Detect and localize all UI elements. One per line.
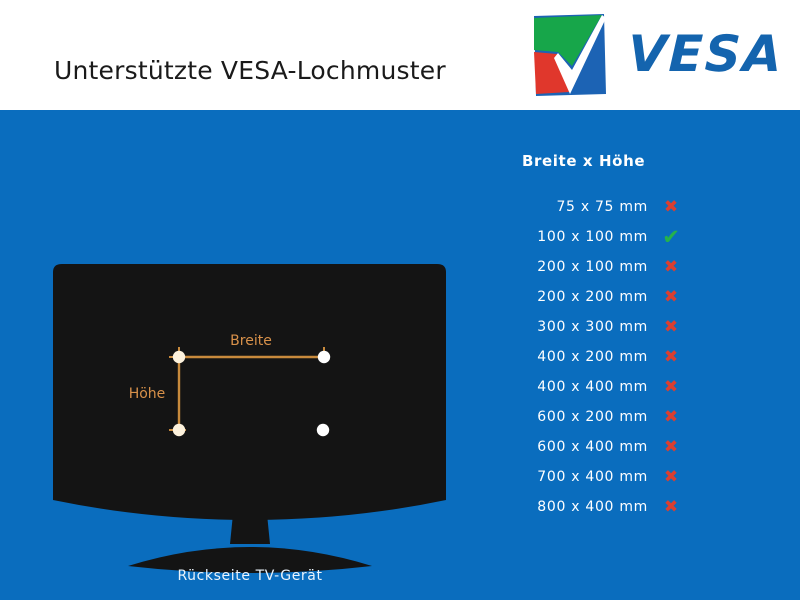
vesa-wordmark: VESA bbox=[627, 26, 785, 82]
unsupported-cross-icon: ✖ bbox=[648, 499, 694, 516]
vesa-logo-mark-icon bbox=[532, 14, 606, 96]
table-row: 300 x 300 mm✖ bbox=[500, 312, 750, 342]
pattern-size-label: 300 x 300 mm bbox=[500, 319, 648, 335]
mount-hole-top-left bbox=[173, 351, 185, 363]
mount-hole-bottom-right bbox=[317, 424, 329, 436]
table-row: 600 x 400 mm✖ bbox=[500, 432, 750, 462]
tv-caption: Rückseite TV-Gerät bbox=[20, 568, 480, 584]
pattern-size-label: 200 x 100 mm bbox=[500, 259, 648, 275]
table-rows: 75 x 75 mm✖100 x 100 mm✔200 x 100 mm✖200… bbox=[500, 192, 750, 522]
tv-body bbox=[53, 264, 446, 520]
table-row: 75 x 75 mm✖ bbox=[500, 192, 750, 222]
pattern-size-label: 600 x 400 mm bbox=[500, 439, 648, 455]
unsupported-cross-icon: ✖ bbox=[648, 319, 694, 336]
page-header: Unterstützte VESA-Lochmuster VESA bbox=[0, 0, 800, 110]
vesa-compatibility-page: Unterstützte VESA-Lochmuster VESA bbox=[0, 0, 800, 600]
supported-check-icon: ✔ bbox=[648, 227, 694, 248]
pattern-size-label: 700 x 400 mm bbox=[500, 469, 648, 485]
table-row: 100 x 100 mm✔ bbox=[500, 222, 750, 252]
table-row: 200 x 200 mm✖ bbox=[500, 282, 750, 312]
pattern-size-label: 75 x 75 mm bbox=[500, 199, 648, 215]
vesa-pattern-table: Breite x Höhe 75 x 75 mm✖100 x 100 mm✔20… bbox=[500, 152, 750, 522]
pattern-size-label: 100 x 100 mm bbox=[500, 229, 648, 245]
table-row: 400 x 400 mm✖ bbox=[500, 372, 750, 402]
unsupported-cross-icon: ✖ bbox=[648, 289, 694, 306]
pattern-size-label: 200 x 200 mm bbox=[500, 289, 648, 305]
content-panel: Breite Höhe Rückseite TV-Gerät Breite x … bbox=[0, 110, 800, 600]
table-row: 700 x 400 mm✖ bbox=[500, 462, 750, 492]
vesa-logo: VESA bbox=[532, 14, 782, 96]
unsupported-cross-icon: ✖ bbox=[648, 469, 694, 486]
mount-hole-top-right bbox=[318, 351, 330, 363]
unsupported-cross-icon: ✖ bbox=[648, 409, 694, 426]
pattern-size-label: 800 x 400 mm bbox=[500, 499, 648, 515]
unsupported-cross-icon: ✖ bbox=[648, 259, 694, 276]
table-header: Breite x Höhe bbox=[522, 152, 750, 170]
page-title: Unterstützte VESA-Lochmuster bbox=[54, 56, 446, 85]
unsupported-cross-icon: ✖ bbox=[648, 199, 694, 216]
height-label: Höhe bbox=[129, 386, 166, 402]
table-row: 200 x 100 mm✖ bbox=[500, 252, 750, 282]
table-row: 600 x 200 mm✖ bbox=[500, 402, 750, 432]
table-row: 400 x 200 mm✖ bbox=[500, 342, 750, 372]
pattern-size-label: 600 x 200 mm bbox=[500, 409, 648, 425]
mount-hole-bottom-left bbox=[173, 424, 185, 436]
unsupported-cross-icon: ✖ bbox=[648, 349, 694, 366]
unsupported-cross-icon: ✖ bbox=[648, 379, 694, 396]
pattern-size-label: 400 x 200 mm bbox=[500, 349, 648, 365]
width-label: Breite bbox=[230, 333, 272, 349]
pattern-size-label: 400 x 400 mm bbox=[500, 379, 648, 395]
tv-neck bbox=[230, 514, 270, 544]
tv-diagram: Breite Höhe Rückseite TV-Gerät bbox=[20, 180, 480, 600]
table-row: 800 x 400 mm✖ bbox=[500, 492, 750, 522]
unsupported-cross-icon: ✖ bbox=[648, 439, 694, 456]
